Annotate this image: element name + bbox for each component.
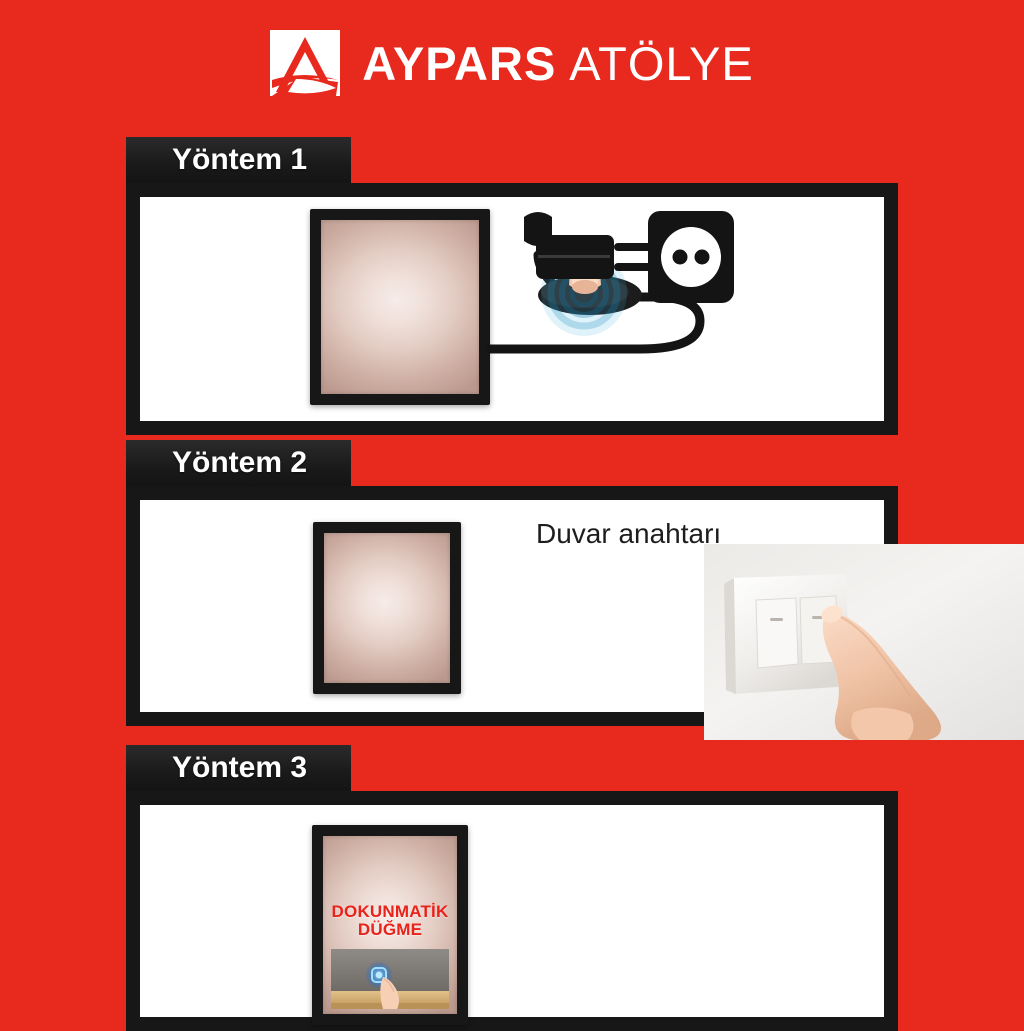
method-1-artwork [140,197,884,421]
method-panel-body-2: Duvar anahtarı [140,500,884,712]
plug-icon [524,212,652,279]
brand-header: AYPARS ATÖLYE [0,24,1024,102]
mirror-3: DOKUNMATİK DÜĞME [312,825,468,1025]
touch-button-photo [331,949,449,1009]
method-block-3: Yöntem 3 DOKUNMATİK DÜĞME [126,745,898,1031]
method-tab-label-2: Yöntem 2 [172,448,307,478]
method-panel-frame-1 [126,183,898,435]
method-panel-frame-3: DOKUNMATİK DÜĞME [126,791,898,1031]
wall-socket-icon [648,211,734,303]
mirror-2 [313,522,461,694]
brand-name-light: ATÖLYE [569,40,753,87]
brand-wordmark: AYPARS ATÖLYE [362,40,754,87]
method-block-2: Yöntem 2 Duvar anahtarı [126,440,898,726]
touch-button-photo-image [331,949,449,1009]
method-block-1: Yöntem 1 [126,137,898,435]
method-panel-body-3: DOKUNMATİK DÜĞME [140,805,884,1017]
wall-switch-photo [704,544,1024,740]
method-tab-3: Yöntem 3 [126,745,351,791]
method-tab-2: Yöntem 2 [126,440,351,486]
method-tab-1: Yöntem 1 [126,137,351,183]
wall-switch-label: Duvar anahtarı [536,518,721,550]
wall-switch-photo-image [704,544,1024,740]
aypars-logo-mark-icon [270,30,340,96]
mirror-glass-2 [324,533,450,683]
method-tab-label-3: Yöntem 3 [172,753,307,783]
method-panel-body-1 [140,197,884,421]
method-tab-label-1: Yöntem 1 [172,145,307,175]
method-panel-frame-2: Duvar anahtarı [126,486,898,726]
brand-name-bold: AYPARS [362,40,556,87]
